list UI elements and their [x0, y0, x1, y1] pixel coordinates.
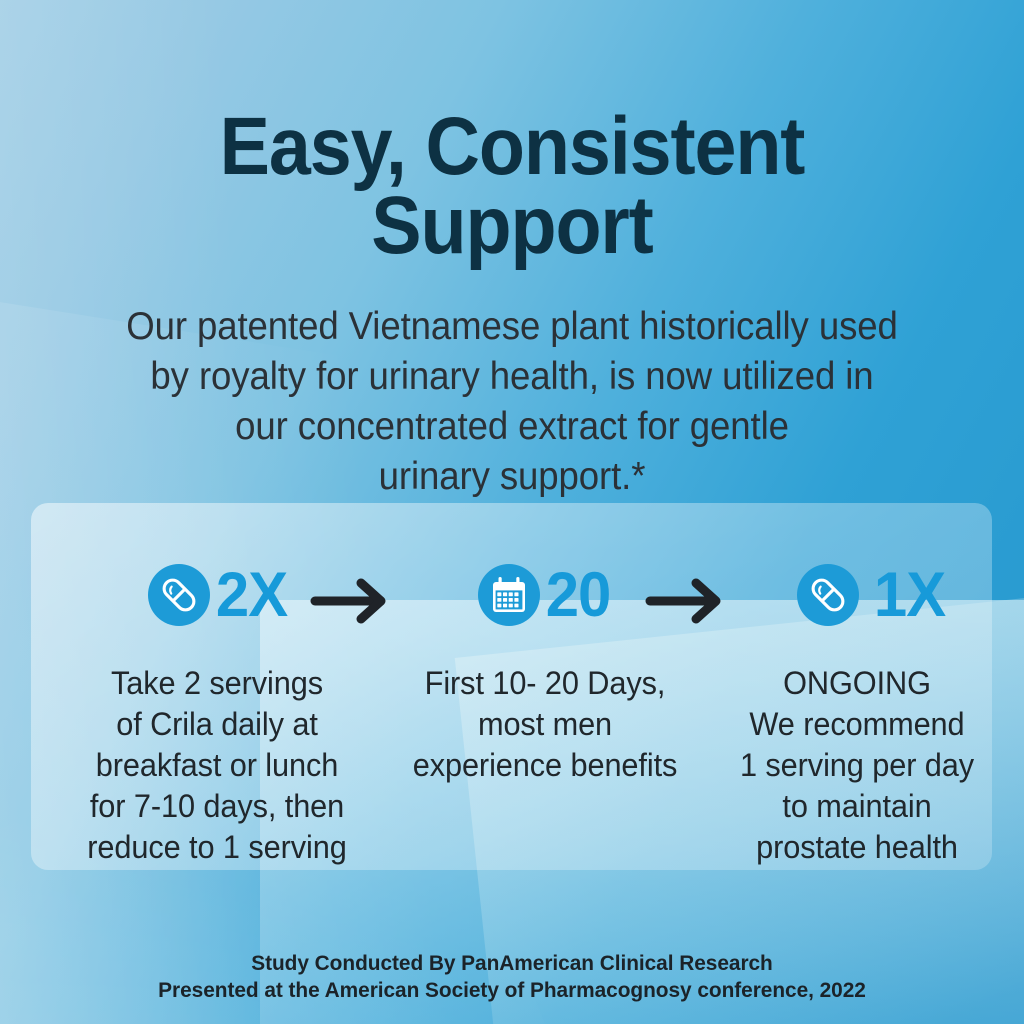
- title-line-1: Easy, Consistent: [41, 107, 983, 187]
- step-2-caption: First 10- 20 Days, most men experience b…: [389, 663, 700, 786]
- step-2-badge: 20: [411, 556, 679, 634]
- footer-line-1: Study Conducted By PanAmerican Clinical …: [15, 950, 1008, 977]
- lead-line-2: by royalty for urinary health, is now ut…: [75, 352, 949, 402]
- footer-line-2: Presented at the American Society of Pha…: [15, 977, 1008, 1004]
- arrow-right-icon: [309, 578, 395, 624]
- pill-icon: [148, 564, 210, 626]
- caption-line: to maintain: [713, 786, 1001, 827]
- caption-line: prostate health: [713, 827, 1001, 868]
- step-2-number: 20: [546, 564, 611, 626]
- arrow-right-icon: [644, 578, 730, 624]
- lead-line-1: Our patented Vietnamese plant historical…: [75, 302, 949, 352]
- infographic-poster: Easy, Consistent Support Our patented Vi…: [0, 0, 1024, 1024]
- poster-content: Easy, Consistent Support Our patented Vi…: [0, 0, 1024, 1024]
- caption-line: ONGOING: [713, 663, 1001, 704]
- caption-line: breakfast or lunch: [61, 745, 372, 786]
- step-1-number: 2X: [216, 564, 287, 626]
- step-1-caption: Take 2 servings of Crila daily at breakf…: [61, 663, 372, 868]
- caption-line: most men: [389, 704, 700, 745]
- caption-line: for 7-10 days, then: [61, 786, 372, 827]
- lead-paragraph: Our patented Vietnamese plant historical…: [75, 302, 949, 502]
- page-title: Easy, Consistent Support: [41, 107, 983, 266]
- caption-line: We recommend: [713, 704, 1001, 745]
- caption-line: 1 serving per day: [713, 745, 1001, 786]
- step-3-number: 1X: [874, 564, 945, 626]
- step-3-badge: 1X: [747, 556, 997, 634]
- caption-line: reduce to 1 serving: [61, 827, 372, 868]
- lead-line-3: our concentrated extract for gentle: [75, 402, 949, 452]
- lead-line-4: urinary support.*: [75, 452, 949, 502]
- caption-line: Take 2 servings: [61, 663, 372, 704]
- step-3-caption: ONGOING We recommend 1 serving per day t…: [713, 663, 1001, 868]
- calendar-icon: [478, 564, 540, 626]
- title-line-2: Support: [41, 186, 983, 266]
- steps-container: 2X: [31, 503, 992, 870]
- caption-line: experience benefits: [389, 745, 700, 786]
- caption-line: of Crila daily at: [61, 704, 372, 745]
- caption-line: First 10- 20 Days,: [389, 663, 700, 704]
- footer-citation: Study Conducted By PanAmerican Clinical …: [15, 950, 1008, 1004]
- pill-icon: [797, 564, 859, 626]
